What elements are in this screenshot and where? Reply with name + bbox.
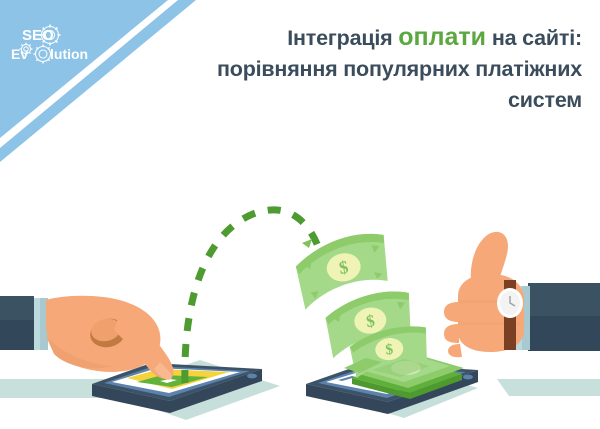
page-title-line-1-before: Інтеграція [287, 26, 398, 50]
page-title: Інтеграція оплати на сайті: порівняння п… [150, 22, 582, 116]
ground-band-right [497, 379, 600, 396]
banknote-flake [302, 239, 312, 248]
page-title-line-1: Інтеграція оплати на сайті: [150, 22, 582, 54]
article-cover-banner: $ $ [0, 0, 600, 429]
page-title-accent: оплати [398, 23, 486, 51]
page-title-line-1-after: на сайті: [486, 26, 582, 50]
page-title-line-3: систем [150, 85, 582, 116]
page-title-line-2: порівняння популярних платіжних [150, 54, 582, 85]
thumbs-up-hand [444, 232, 600, 357]
